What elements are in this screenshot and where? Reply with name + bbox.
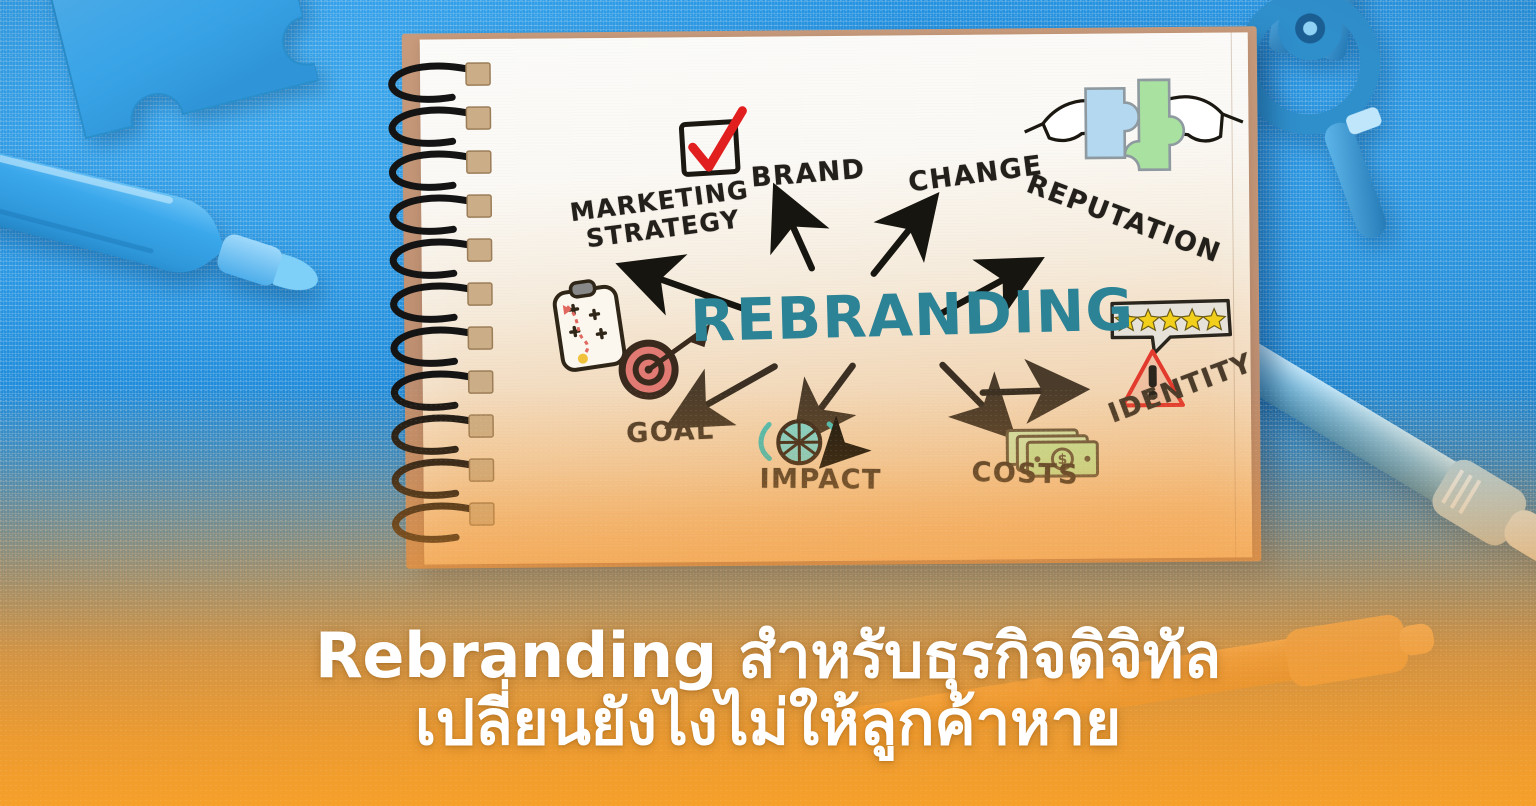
keyword-reputation: REPUTATION [1022, 169, 1225, 270]
headline-line-2: เปลี่ยนยังไงไม่ให้ลูกค้าหาย [0, 691, 1536, 754]
mindmap-center-word: REBRANDING [689, 275, 1135, 355]
banner-canvas: $ MARKETING STRATEGY BRAND CHANGE REPUTA… [0, 0, 1536, 806]
headline-line-1: Rebranding สำหรับธุรกิจดิจิทัล [0, 624, 1536, 687]
headline: Rebranding สำหรับธุรกิจดิจิทัล เปลี่ยนยั… [0, 624, 1536, 754]
keyword-brand: BRAND [750, 154, 867, 194]
keyword-marketing-strategy: MARKETING STRATEGY [568, 176, 754, 255]
